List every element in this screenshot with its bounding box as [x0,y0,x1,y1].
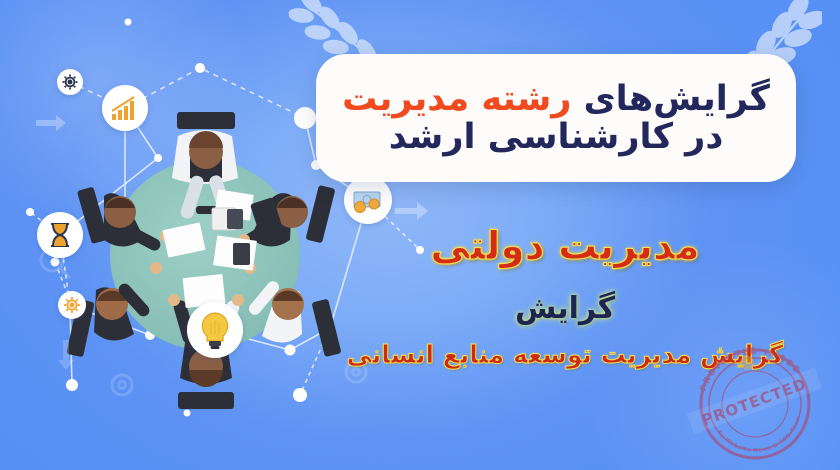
arrow-left-icon [36,115,66,131]
title-part-navy: گرایش‌های [584,79,770,119]
title-line-1: گرایش‌های رشته مدیریت [342,81,770,117]
ghost-gear-icon [112,375,132,395]
heading-minor: گرایش مدیریت توسعه منابع انسانی [347,340,784,369]
watermark-bottom-text: by Website News & SEO Team [715,414,807,462]
title-part-orange: رشته مدیریت [342,79,571,119]
watermark-main-text: PROTECTED [699,375,809,430]
svg-text:by Website News & SEO Team: by Website News & SEO Team [715,414,807,462]
heading-major: مدیریت دولتی [430,224,699,269]
title-line-2: در کارشناسی ارشد [389,119,724,155]
title-card: گرایش‌های رشته مدیریت در کارشناسی ارشد [316,54,796,182]
banner-root: گرایش‌های رشته مدیریت در کارشناسی ارشد م… [0,0,840,470]
heading-stack: مدیریت دولتی گرایش گرایش مدیریت توسعه من… [330,196,800,369]
heading-mid: گرایش [515,291,615,326]
